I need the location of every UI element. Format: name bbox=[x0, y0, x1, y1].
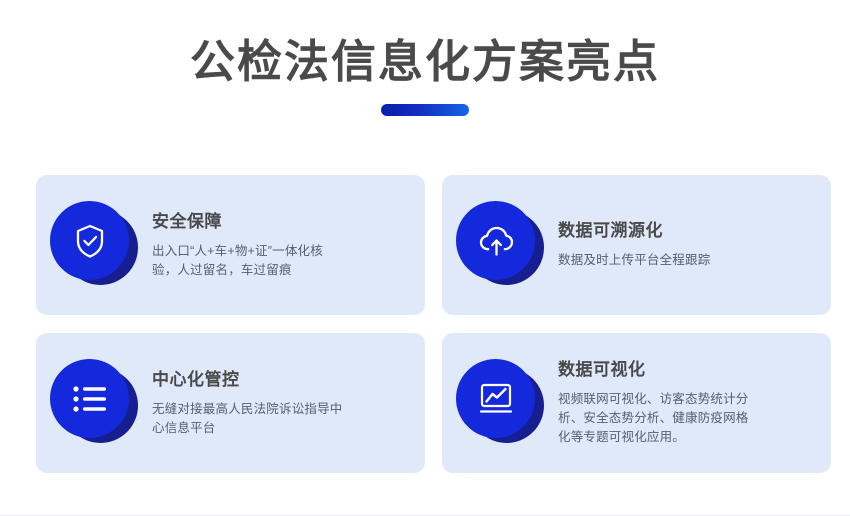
page-title: 公检法信息化方案亮点 bbox=[0, 34, 850, 90]
page-root: 公检法信息化方案亮点 安全保障 出入口“人+车+物+证”一体化核验，人 bbox=[0, 0, 850, 516]
shield-check-icon bbox=[70, 221, 110, 261]
card-description: 视频联网可视化、访客态势统计分析、安全态势分析、健康防疫网格化等专题可视化应用。 bbox=[558, 390, 750, 447]
card-title: 中心化管控 bbox=[152, 369, 407, 391]
icon-badge bbox=[456, 201, 544, 289]
card-title: 安全保障 bbox=[152, 211, 407, 233]
feature-card-security[interactable]: 安全保障 出入口“人+车+物+证”一体化核验，人过留名，车过留痕 bbox=[36, 175, 425, 315]
card-text: 中心化管控 无缝对接最高人民法院诉讼指导中心信息平台 bbox=[152, 369, 407, 438]
chart-monitor-icon bbox=[475, 380, 517, 418]
page-header: 公检法信息化方案亮点 bbox=[0, 0, 850, 116]
icon-circle bbox=[50, 359, 129, 438]
card-description: 数据及时上传平台全程跟踪 bbox=[558, 251, 813, 270]
cloud-upload-icon bbox=[475, 221, 517, 261]
icon-circle bbox=[50, 201, 129, 280]
card-description: 无缝对接最高人民法院诉讼指导中心信息平台 bbox=[152, 400, 344, 438]
feature-card-traceability[interactable]: 数据可溯源化 数据及时上传平台全程跟踪 bbox=[442, 175, 831, 315]
bullet-list-icon bbox=[69, 382, 111, 416]
card-description: 出入口“人+车+物+证”一体化核验，人过留名，车过留痕 bbox=[152, 242, 348, 280]
icon-circle bbox=[456, 359, 535, 438]
icon-badge bbox=[50, 201, 138, 289]
icon-circle bbox=[456, 201, 535, 280]
feature-card-visualization[interactable]: 数据可视化 视频联网可视化、访客态势统计分析、安全态势分析、健康防疫网格化等专题… bbox=[442, 333, 831, 473]
icon-badge bbox=[50, 359, 138, 447]
card-text: 数据可溯源化 数据及时上传平台全程跟踪 bbox=[558, 220, 813, 270]
card-text: 数据可视化 视频联网可视化、访客态势统计分析、安全态势分析、健康防疫网格化等专题… bbox=[558, 359, 813, 447]
icon-badge bbox=[456, 359, 544, 447]
card-text: 安全保障 出入口“人+车+物+证”一体化核验，人过留名，车过留痕 bbox=[152, 211, 407, 280]
feature-card-central-control[interactable]: 中心化管控 无缝对接最高人民法院诉讼指导中心信息平台 bbox=[36, 333, 425, 473]
title-underline-accent bbox=[381, 104, 469, 116]
card-title: 数据可视化 bbox=[558, 359, 813, 381]
card-title: 数据可溯源化 bbox=[558, 220, 813, 242]
feature-card-grid: 安全保障 出入口“人+车+物+证”一体化核验，人过留名，车过留痕 bbox=[36, 175, 815, 473]
